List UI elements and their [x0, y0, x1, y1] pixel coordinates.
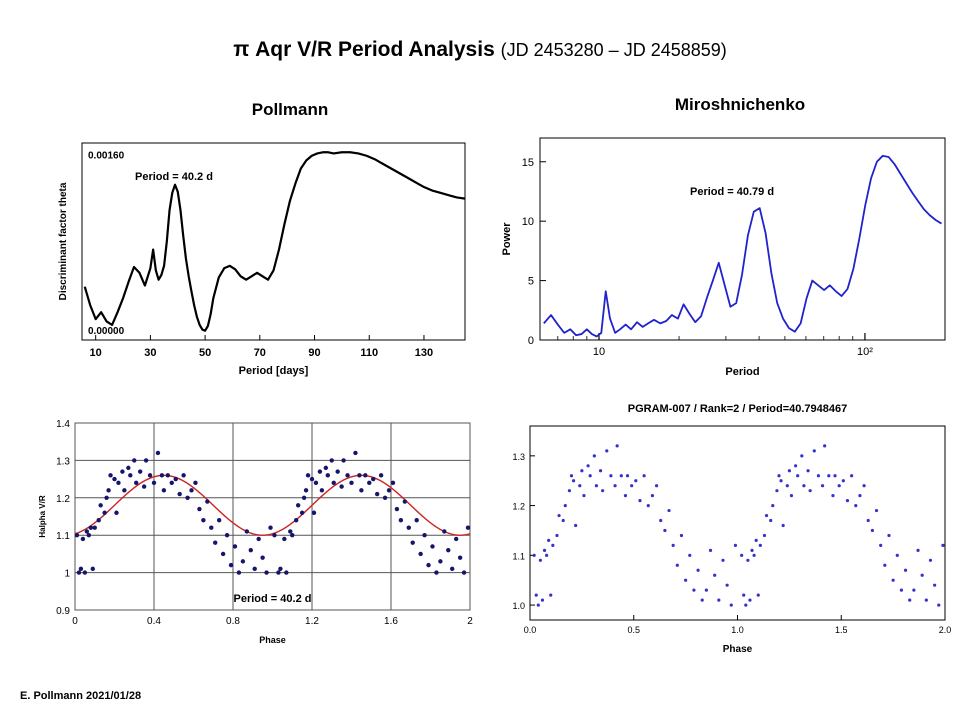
chart-pollmann-periodogram: 1030507090110130Period [days]0.001600.00… [10, 125, 480, 395]
footer-credit: E. Pollmann 2021/01/28 [20, 690, 141, 702]
svg-text:0.00160: 0.00160 [88, 151, 125, 162]
svg-text:Period: Period [725, 366, 759, 378]
svg-text:Phase: Phase [723, 644, 753, 655]
svg-text:0: 0 [528, 335, 534, 347]
svg-text:1.1: 1.1 [56, 531, 70, 542]
svg-text:15: 15 [522, 157, 534, 169]
svg-text:PGRAM-007 / Rank=2 / Period=40: PGRAM-007 / Rank=2 / Period=40.7948467 [628, 403, 848, 415]
svg-text:0.5: 0.5 [627, 625, 640, 635]
svg-text:0.4: 0.4 [147, 616, 161, 627]
svg-text:Halpha V/R: Halpha V/R [38, 495, 47, 537]
svg-text:1.0: 1.0 [512, 601, 525, 611]
svg-text:50: 50 [199, 347, 211, 359]
svg-text:1.2: 1.2 [56, 494, 70, 505]
panel-title-pollmann: Pollmann [160, 100, 420, 120]
svg-text:1.4: 1.4 [56, 419, 70, 430]
svg-text:1.2: 1.2 [512, 502, 525, 512]
svg-text:1.1: 1.1 [512, 551, 525, 561]
svg-text:90: 90 [308, 347, 320, 359]
svg-text:Period = 40.2 d: Period = 40.2 d [135, 171, 213, 183]
svg-text:10²: 10² [857, 346, 873, 358]
svg-text:0.9: 0.9 [56, 606, 70, 617]
svg-text:Discriminant factor theta: Discriminant factor theta [58, 182, 69, 300]
svg-text:70: 70 [254, 347, 266, 359]
svg-text:1.0: 1.0 [731, 625, 744, 635]
svg-text:Period [days]: Period [days] [239, 365, 309, 377]
svg-text:110: 110 [360, 347, 378, 359]
page-title: π Aqr V/R Period Analysis (JD 2453280 – … [0, 38, 960, 62]
chart-miroshnichenko-periodogram: 1010²051015PeriodPowerPeriod = 40.79 d [490, 120, 960, 400]
svg-text:0.00000: 0.00000 [88, 326, 125, 337]
svg-text:1.5: 1.5 [835, 625, 848, 635]
svg-text:130: 130 [415, 347, 433, 359]
svg-text:Period = 40.79 d: Period = 40.79 d [690, 186, 774, 198]
page-title-main: π Aqr V/R Period Analysis [233, 38, 495, 61]
svg-text:10: 10 [522, 216, 534, 228]
svg-text:1.3: 1.3 [512, 452, 525, 462]
svg-text:Phase: Phase [259, 635, 286, 645]
svg-text:0: 0 [72, 616, 78, 627]
svg-text:Power: Power [501, 222, 513, 256]
svg-text:10: 10 [90, 347, 102, 359]
svg-text:1.3: 1.3 [56, 456, 70, 467]
svg-text:2: 2 [467, 616, 473, 627]
svg-text:0.0: 0.0 [524, 625, 537, 635]
page-title-range: (JD 2453280 – JD 2458859) [501, 40, 727, 60]
svg-text:10: 10 [593, 346, 605, 358]
chart-pgram-phase: 0.00.51.01.52.01.01.11.21.3PhasePGRAM-00… [490, 398, 960, 683]
svg-text:Period = 40.2 d: Period = 40.2 d [234, 593, 312, 605]
svg-text:0.8: 0.8 [226, 616, 240, 627]
panel-title-miroshnichenko: Miroshnichenko [600, 95, 880, 115]
svg-text:1.6: 1.6 [384, 616, 398, 627]
svg-text:5: 5 [528, 276, 534, 288]
svg-text:2.0: 2.0 [939, 625, 952, 635]
svg-text:1: 1 [64, 569, 70, 580]
chart-pollmann-phase: 00.40.81.21.620.911.11.21.31.4PhaseHalph… [10, 405, 480, 690]
svg-text:30: 30 [144, 347, 156, 359]
svg-text:1.2: 1.2 [305, 616, 319, 627]
